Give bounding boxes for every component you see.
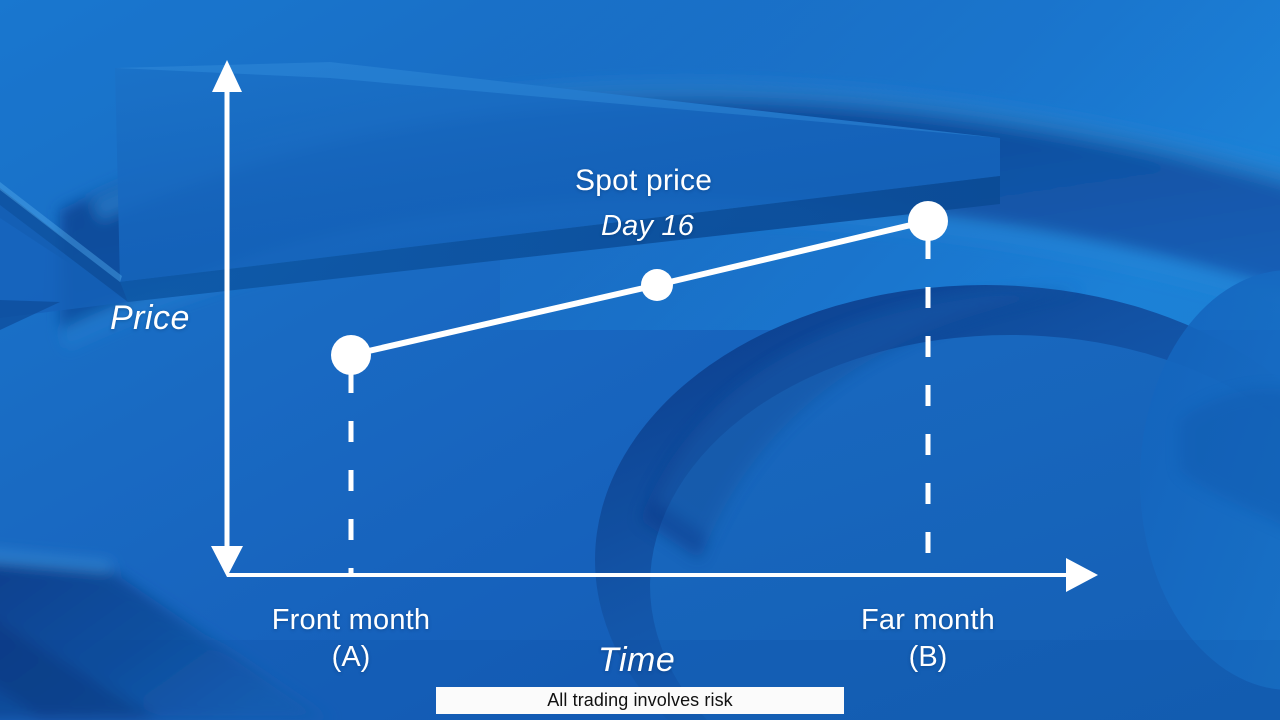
disclaimer-caption-text: All trading involves risk [547, 690, 733, 711]
slide-canvas: Price Time Spot price Day 16 Front month… [0, 0, 1280, 720]
x-axis-label: Time [598, 641, 675, 680]
disclaimer-caption-bar: All trading involves risk [436, 687, 844, 714]
x-tick-front-month-code: (A) [191, 638, 511, 676]
y-axis-label: Price [110, 299, 190, 338]
data-point-spot-price[interactable] [641, 269, 673, 301]
data-point-front-month[interactable] [331, 335, 371, 375]
x-axis [227, 558, 1098, 592]
spot-price-annotation-day: Day 16 [601, 210, 694, 243]
x-tick-far-month-code: (B) [768, 638, 1088, 676]
x-tick-far-month: Far month (B) [768, 602, 1088, 676]
spot-price-annotation-title: Spot price [575, 164, 712, 198]
data-point-far-month[interactable] [908, 201, 948, 241]
x-tick-front-month-name: Front month [191, 602, 511, 638]
x-tick-far-month-name: Far month [768, 602, 1088, 638]
x-tick-front-month: Front month (A) [191, 602, 511, 676]
y-axis [211, 60, 243, 577]
